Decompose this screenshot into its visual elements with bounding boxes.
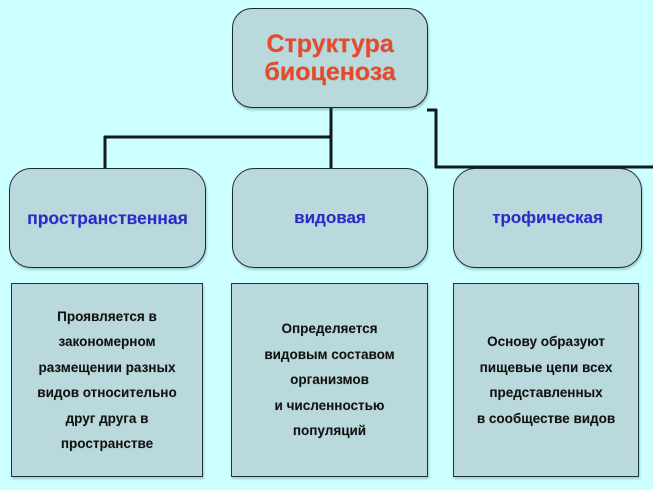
title-box: Структура биоценоза [232,8,428,108]
description-line: популяций [293,424,366,438]
category-box-trophic: трофическая [453,168,642,268]
description-line: пищевые цепи всех [480,361,613,375]
description-line: организмов [290,373,369,387]
diagram-canvas: Структура биоценоза пространственная вид… [0,0,653,490]
category-box-spatial: пространственная [9,168,206,268]
description-line: Определяется [281,322,377,336]
description-line: видов относительно [37,386,176,400]
description-box-trophic: Основу образуют пищевые цепи всех предст… [453,283,639,477]
category-box-species: видовая [232,168,428,268]
description-line: пространстве [61,437,153,451]
description-line: в сообществе видов [477,412,615,426]
description-box-spatial: Проявляется в закономерном размещении ра… [11,283,203,477]
description-line: закономерном [58,335,155,349]
description-box-species: Определяется видовым составом организмов… [231,283,428,477]
title-label: Структура биоценоза [264,30,395,86]
description-line: видовым составом [264,348,394,362]
description-line: размещении разных [38,361,175,375]
description-line: Основу образуют [487,335,605,349]
description-line: и численностью [275,399,385,413]
title-line-2: биоценоза [264,58,395,86]
category-label-spatial: пространственная [27,208,188,229]
description-line: Проявляется в [57,310,157,324]
description-line: друг друга в [66,412,149,426]
category-label-trophic: трофическая [492,208,603,228]
title-line-1: Структура [266,30,393,58]
description-line: представленных [489,386,602,400]
category-label-species: видовая [294,208,366,228]
